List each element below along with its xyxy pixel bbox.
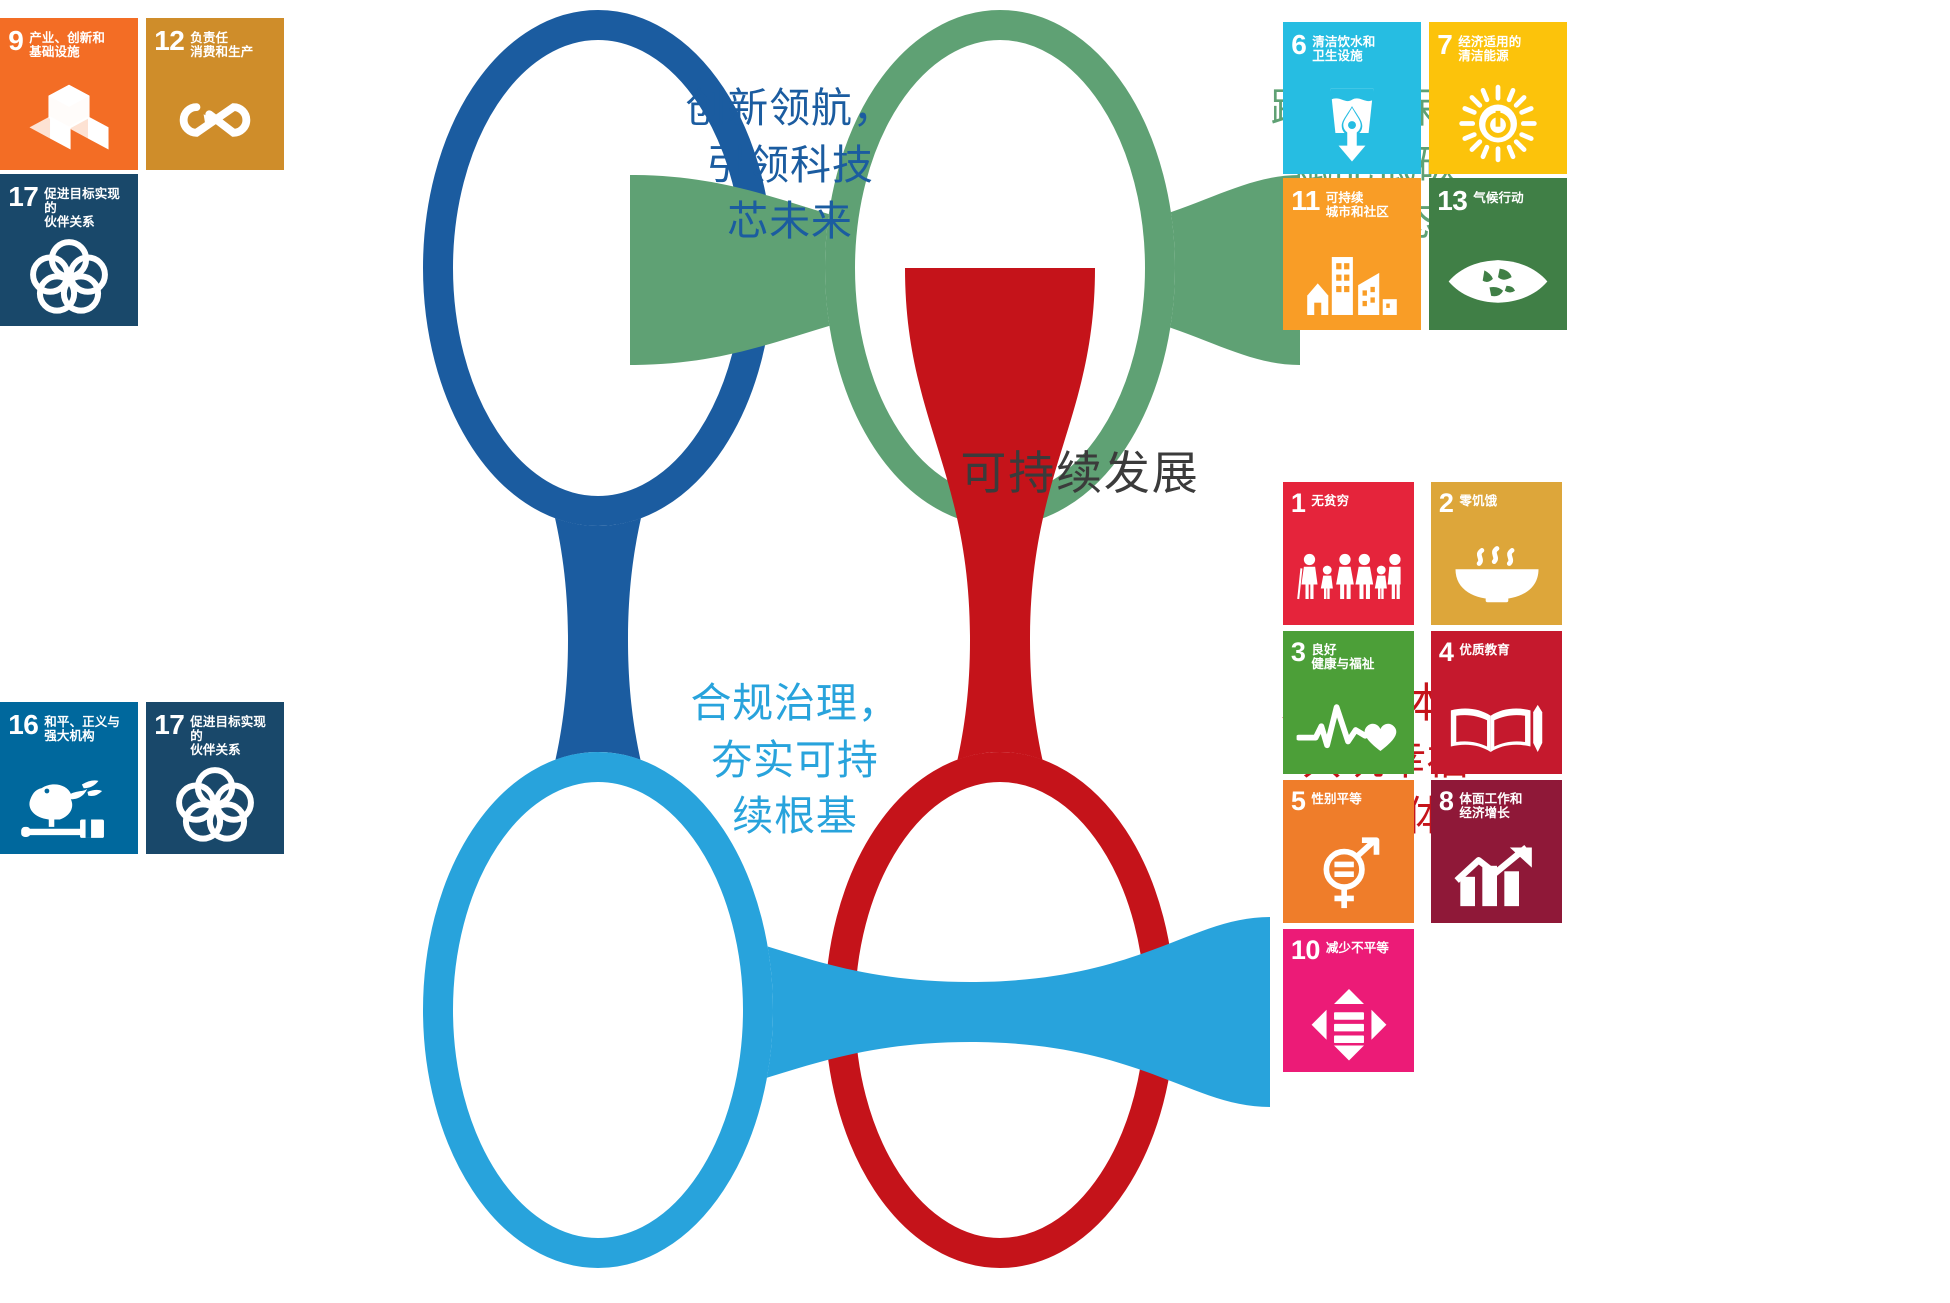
city-icon bbox=[1304, 248, 1401, 324]
sdg-card-16[interactable]: 16 和平、正义与 强大机构 bbox=[0, 702, 138, 854]
sdg-number: 10 bbox=[1291, 939, 1320, 963]
growth-chart-icon bbox=[1451, 843, 1543, 909]
sdg-number: 9 bbox=[8, 29, 23, 54]
sdg-title: 和平、正义与 强大机构 bbox=[44, 713, 120, 743]
sdg-title: 可持续 城市和社区 bbox=[1326, 189, 1389, 219]
sdg-card-3[interactable]: 3 良好 健康与福祉 bbox=[1283, 631, 1414, 774]
dove-gavel-icon bbox=[14, 772, 124, 845]
water-glass-icon bbox=[1318, 84, 1387, 163]
gender-equality-icon bbox=[1311, 837, 1387, 911]
sdg-card-header: 17 促进目标实现的 伙伴关系 bbox=[8, 185, 132, 229]
sdg-card-header: 11 可持续 城市和社区 bbox=[1291, 189, 1415, 219]
sdg-card-header: 10 减少不平等 bbox=[1291, 939, 1409, 963]
sdg-card-header: 16 和平、正义与 强大机构 bbox=[8, 713, 132, 743]
sdg-card-header: 8 体面工作和 经济增长 bbox=[1439, 790, 1557, 820]
sdg-card-header: 17 促进目标实现的 伙伴关系 bbox=[154, 713, 278, 757]
sdg-title: 无贫穷 bbox=[1311, 492, 1349, 508]
sun-power-icon bbox=[1455, 84, 1541, 163]
bowl-icon bbox=[1449, 542, 1543, 608]
sdg-card-17-topleft[interactable]: 17 促进目标实现的 伙伴关系 bbox=[0, 174, 138, 326]
sdg-card-5[interactable]: 5 性别平等 bbox=[1283, 780, 1414, 923]
sdg-number: 17 bbox=[154, 713, 184, 738]
sdg-title: 产业、创新和 基础设施 bbox=[29, 29, 105, 59]
sdg-number: 16 bbox=[8, 713, 38, 738]
sdg-title: 减少不平等 bbox=[1326, 939, 1389, 955]
sdg-card-header: 13 气候行动 bbox=[1437, 189, 1561, 214]
sdg-card-header: 4 优质教育 bbox=[1439, 641, 1557, 665]
sdg-card-9[interactable]: 9 产业、创新和 基础设施 bbox=[0, 18, 138, 170]
sdg-number: 2 bbox=[1439, 492, 1453, 516]
sdg-card-2[interactable]: 2 零饥饿 bbox=[1431, 482, 1562, 625]
sdg-number: 7 bbox=[1437, 33, 1452, 58]
sdg-number: 12 bbox=[154, 29, 184, 54]
sdg-card-10[interactable]: 10 减少不平等 bbox=[1283, 929, 1414, 1072]
sdg-title: 清洁饮水和 卫生设施 bbox=[1312, 33, 1375, 63]
family-icon bbox=[1296, 545, 1401, 608]
sdg-card-header: 12 负责任 消费和生产 bbox=[154, 29, 278, 59]
sdg-card-7[interactable]: 7 经济适用的 清洁能源 bbox=[1429, 22, 1567, 174]
sdg-title: 负责任 消费和生产 bbox=[190, 29, 253, 59]
sdg-title: 性别平等 bbox=[1311, 790, 1362, 806]
sdg-card-header: 3 良好 健康与福祉 bbox=[1291, 641, 1409, 671]
sdg-title: 良好 健康与福祉 bbox=[1311, 641, 1374, 671]
equal-arrows-icon bbox=[1305, 989, 1391, 1061]
sdg-number: 6 bbox=[1291, 33, 1306, 58]
cubes-icon bbox=[26, 80, 112, 159]
sdg-card-12[interactable]: 12 负责任 消费和生产 bbox=[146, 18, 284, 170]
sdg-title: 气候行动 bbox=[1473, 189, 1524, 205]
sustainability-diagram: 创新领航， 引领科技 芯未来 践行环保， 赋能低碳 新生态 合规治理， 夯实可持… bbox=[300, 0, 1300, 1303]
infinity-icon bbox=[172, 85, 258, 155]
infographic-canvas: 创新领航， 引领科技 芯未来 践行环保， 赋能低碳 新生态 合规治理， 夯实可持… bbox=[0, 0, 1950, 1303]
rings-icon bbox=[26, 236, 112, 315]
sdg-card-11[interactable]: 11 可持续 城市和社区 bbox=[1283, 178, 1421, 330]
sdg-title: 经济适用的 清洁能源 bbox=[1458, 33, 1521, 63]
sdg-card-17-bottomleft[interactable]: 17 促进目标实现的 伙伴关系 bbox=[146, 702, 284, 854]
sdg-card-8[interactable]: 8 体面工作和 经济增长 bbox=[1431, 780, 1562, 923]
sdg-number: 8 bbox=[1439, 790, 1453, 814]
sdg-title: 促进目标实现的 伙伴关系 bbox=[190, 713, 278, 757]
sdg-card-header: 6 清洁饮水和 卫生设施 bbox=[1291, 33, 1415, 63]
sdg-card-header: 7 经济适用的 清洁能源 bbox=[1437, 33, 1561, 63]
sdg-number: 1 bbox=[1291, 492, 1305, 516]
sdg-number: 17 bbox=[8, 185, 38, 210]
sdg-title: 优质教育 bbox=[1459, 641, 1510, 657]
sdg-card-4[interactable]: 4 优质教育 bbox=[1431, 631, 1562, 774]
sdg-card-13[interactable]: 13 气候行动 bbox=[1429, 178, 1567, 330]
sdg-number: 5 bbox=[1291, 790, 1305, 814]
heartbeat-icon bbox=[1296, 700, 1401, 760]
sdg-number: 13 bbox=[1437, 189, 1467, 214]
climate-eye-icon bbox=[1447, 248, 1549, 315]
sdg-card-1[interactable]: 1 无贫穷 bbox=[1283, 482, 1414, 625]
sdg-title: 零饥饿 bbox=[1459, 492, 1497, 508]
sdg-number: 3 bbox=[1291, 641, 1305, 665]
lobe-label-innovation: 创新领航， 引领科技 芯未来 bbox=[655, 80, 925, 250]
lobe-label-governance: 合规治理， 夯实可持 续根基 bbox=[660, 675, 930, 845]
sdg-card-header: 9 产业、创新和 基础设施 bbox=[8, 29, 132, 59]
sdg-title: 促进目标实现的 伙伴关系 bbox=[44, 185, 132, 229]
sdg-card-6[interactable]: 6 清洁饮水和 卫生设施 bbox=[1283, 22, 1421, 174]
sdg-card-header: 2 零饥饿 bbox=[1439, 492, 1557, 516]
diagram-center-label: 可持续发展 bbox=[920, 437, 1240, 503]
sdg-number: 11 bbox=[1291, 189, 1319, 214]
rings-icon bbox=[172, 764, 258, 843]
sdg-card-header: 1 无贫穷 bbox=[1291, 492, 1409, 516]
book-pencil-icon bbox=[1447, 697, 1547, 760]
sdg-number: 4 bbox=[1439, 641, 1453, 665]
sdg-card-header: 5 性别平等 bbox=[1291, 790, 1409, 814]
sdg-title: 体面工作和 经济增长 bbox=[1459, 790, 1522, 820]
